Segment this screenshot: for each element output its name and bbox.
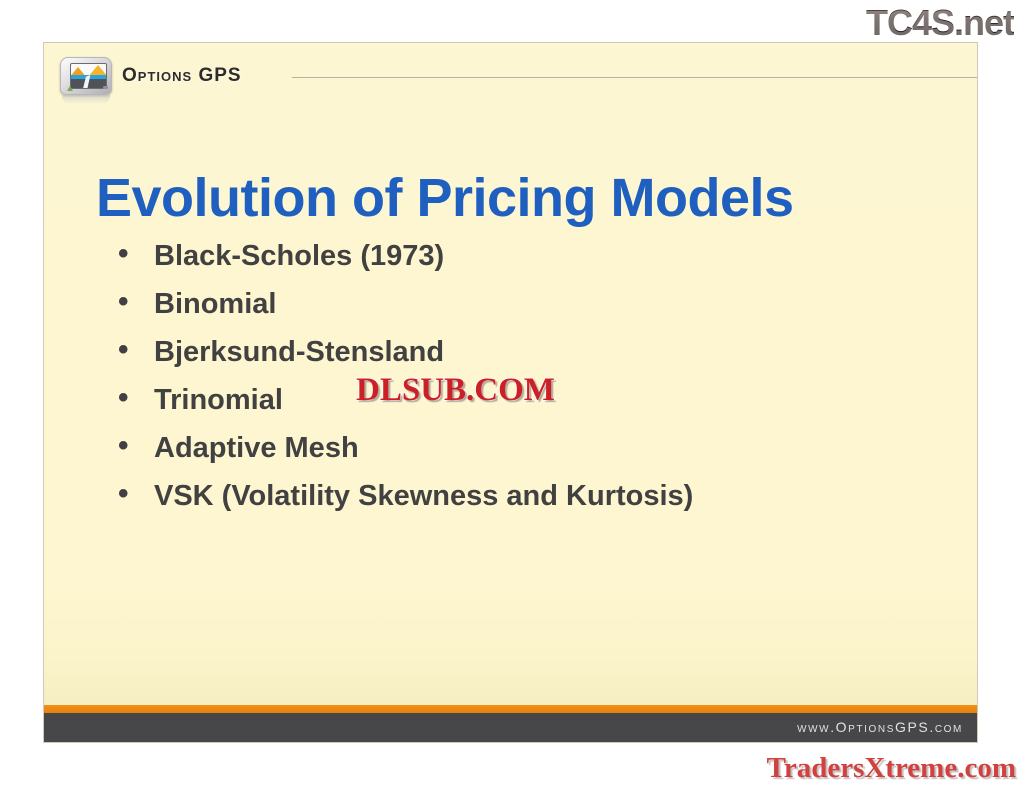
- gps-device-badge-icon: [67, 86, 73, 91]
- presentation-slide: Options GPS Evolution of Pricing Models …: [43, 42, 978, 743]
- gps-device-screen: [70, 63, 107, 89]
- page-title: Evolution of Pricing Models: [96, 167, 936, 229]
- gps-device-icon: [60, 57, 112, 97]
- brand-label: Options GPS: [122, 65, 242, 87]
- footer-accent-stripe: [44, 705, 977, 713]
- watermark-bottom-right: TradersXtreme.com: [767, 752, 1016, 785]
- gps-device-button: [103, 86, 108, 89]
- list-item: VSK (Volatility Skewness and Kurtosis): [104, 479, 964, 513]
- header-divider: [292, 77, 977, 78]
- list-item: Bjerksund-Stensland: [104, 335, 964, 369]
- slide-footer: www.OptionsGPS.com: [44, 713, 977, 742]
- footer-url: www.OptionsGPS.com: [797, 719, 963, 735]
- gps-device-body: [60, 57, 112, 95]
- watermark-top-right: TC4S.net: [866, 2, 1014, 44]
- list-item: Black-Scholes (1973): [104, 239, 964, 273]
- list-item: Adaptive Mesh: [104, 431, 964, 465]
- slide-header: Options GPS: [44, 43, 977, 103]
- list-item: Binomial: [104, 287, 964, 321]
- watermark-middle: DLSUB.COM: [356, 372, 555, 409]
- gps-device-reflection: [62, 95, 110, 104]
